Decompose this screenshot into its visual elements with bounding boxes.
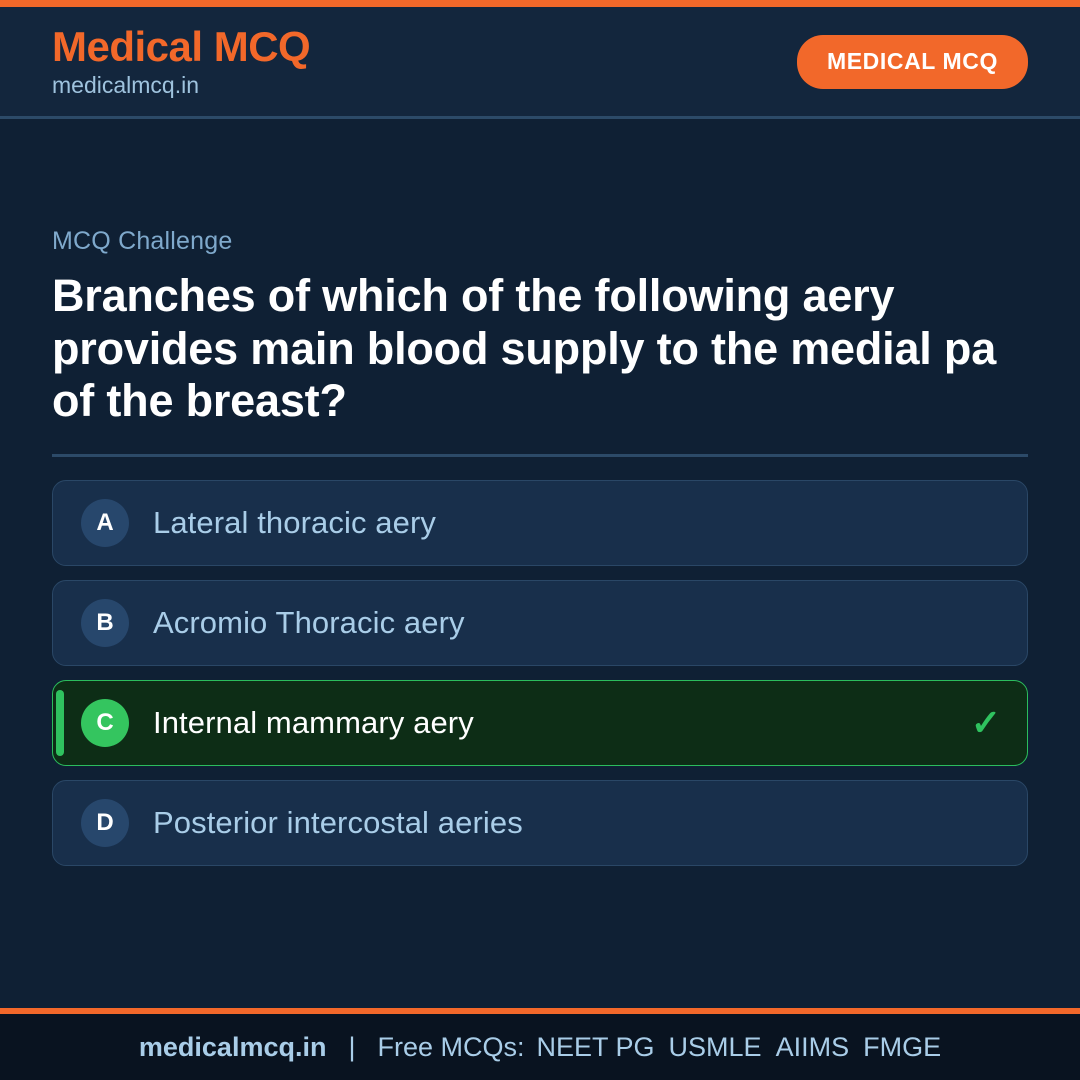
options-list: A Lateral thoracic aery B Acromio Thorac…: [52, 480, 1028, 866]
brand-block: Medical MCQ medicalmcq.in: [52, 26, 310, 97]
mcq-card: Medical MCQ medicalmcq.in MEDICAL MCQ MC…: [0, 0, 1080, 1080]
option-letter-badge-d: D: [81, 799, 129, 847]
option-row-a[interactable]: A Lateral thoracic aery: [52, 480, 1028, 566]
top-accent-bar: [0, 0, 1080, 7]
main-content: MCQ Challenge Branches of which of the f…: [0, 119, 1080, 1008]
option-letter-badge-b: B: [81, 599, 129, 647]
option-text-a: Lateral thoracic aery: [153, 505, 436, 541]
option-row-d[interactable]: D Posterior intercostal aeries: [52, 780, 1028, 866]
divider: [52, 454, 1028, 457]
option-letter-badge-c: C: [81, 699, 129, 747]
option-text-b: Acromio Thoracic aery: [153, 605, 465, 641]
footer: medicalmcq.in | Free MCQs: NEET PG USMLE…: [0, 1014, 1080, 1080]
footer-free-mcqs-label: Free MCQs:: [377, 1032, 524, 1063]
footer-separator: |: [348, 1032, 355, 1063]
question-text: Branches of which of the following aery …: [52, 270, 1012, 428]
brand-subtitle: medicalmcq.in: [52, 74, 310, 97]
brand-title: Medical MCQ: [52, 26, 310, 68]
footer-exam-fmge: FMGE: [863, 1032, 941, 1063]
footer-exam-neetpg: NEET PG: [537, 1032, 655, 1063]
header: Medical MCQ medicalmcq.in MEDICAL MCQ: [0, 7, 1080, 119]
header-badge: MEDICAL MCQ: [797, 35, 1028, 89]
correct-accent-bar: [56, 690, 64, 756]
option-text-c: Internal mammary aery: [153, 705, 474, 741]
footer-exam-usmle: USMLE: [669, 1032, 762, 1063]
footer-site-label: medicalmcq.in: [139, 1032, 327, 1063]
footer-exam-aiims: AIIMS: [776, 1032, 850, 1063]
option-letter-badge-a: A: [81, 499, 129, 547]
option-text-d: Posterior intercostal aeries: [153, 805, 523, 841]
check-icon: ✓: [971, 705, 1001, 741]
option-row-c[interactable]: C Internal mammary aery ✓: [52, 680, 1028, 766]
option-row-b[interactable]: B Acromio Thoracic aery: [52, 580, 1028, 666]
eyebrow-label: MCQ Challenge: [52, 227, 1028, 256]
